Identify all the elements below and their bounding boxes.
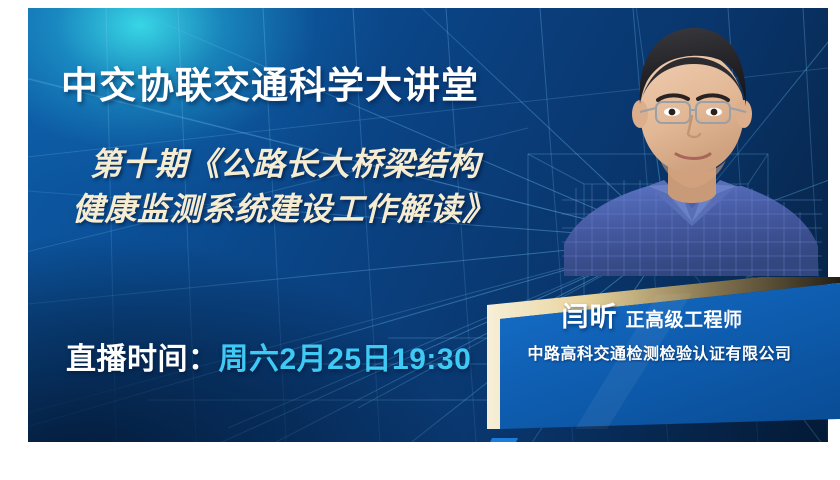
speaker-role: 正高级工程师 bbox=[625, 310, 742, 331]
poster-headline: 中交协联交通科学大讲堂 bbox=[61, 55, 479, 109]
speaker-panel: 闫昕正高级工程师 中路高科交通检测检验认证有限公司 bbox=[487, 277, 840, 429]
poster-frame: 中交协联交通科学大讲堂 第十期《公路长大桥梁结构 健康监测系统建设工作解读》 直… bbox=[0, 0, 840, 480]
subtitle-line-2: 健康监测系统建设工作解读》 bbox=[72, 187, 592, 232]
accent-chip bbox=[488, 438, 518, 442]
speaker-text-block: 闫昕正高级工程师 中路高科交通检测检验认证有限公司 bbox=[487, 277, 840, 429]
speaker-company: 中路高科交通检测检验认证有限公司 bbox=[487, 340, 832, 364]
subtitle-line-1: 第十期《公路长大桥梁结构 bbox=[72, 142, 592, 187]
live-time-value: 周六2月25日19:30 bbox=[219, 343, 472, 376]
live-time: 直播时间：周六2月25日19:30 bbox=[66, 334, 471, 378]
speaker-name: 闫昕 bbox=[561, 302, 617, 332]
live-time-label: 直播时间： bbox=[66, 343, 219, 376]
poster-subtitle: 第十期《公路长大桥梁结构 健康监测系统建设工作解读》 bbox=[72, 142, 592, 233]
speaker-portrait bbox=[556, 8, 828, 276]
speaker-line-1: 闫昕正高级工程师 bbox=[487, 295, 817, 334]
